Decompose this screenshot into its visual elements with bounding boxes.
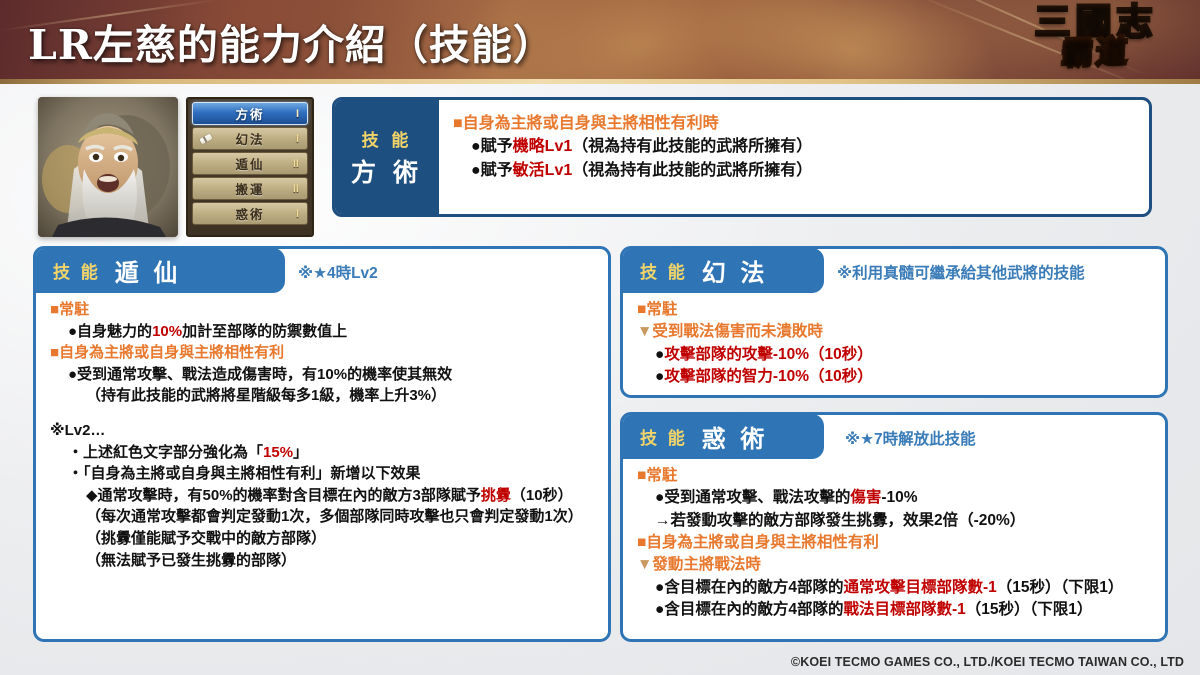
skill-panel-huoshu: 技 能 惑 術 ※★7時解放此技能 ■常駐●受到通常攻擊、戰法攻擊的傷害-10%… bbox=[620, 412, 1168, 642]
skill-menu-item-rank: II bbox=[293, 158, 299, 170]
text-span: 15% bbox=[263, 444, 293, 461]
text-span: （15秒）（下限1） bbox=[966, 601, 1093, 618]
bullet-square-icon: ■ bbox=[453, 115, 463, 132]
skill-panel-huanfa: 技 能 幻 法 ※利用真髓可繼承給其他武將的技能 ■常駐▼受到戰法傷害而未潰敗時… bbox=[620, 246, 1168, 398]
text-span: 」 bbox=[293, 444, 308, 461]
skill-menu-item-1[interactable]: 幻法I bbox=[192, 127, 308, 150]
bullet-square-icon: ■ bbox=[637, 301, 646, 318]
text-line: ▼發動主將戰法時 bbox=[637, 554, 1153, 576]
text-span: （10秒） bbox=[511, 487, 573, 504]
text-span: （視為持有此技能的武將所擁有） bbox=[572, 138, 812, 155]
text-span: （持有此技能的武將將星階級每多1級，機率上升3%） bbox=[86, 387, 446, 404]
text-span: （15秒）（下限1） bbox=[997, 579, 1124, 596]
scroll-icon bbox=[199, 133, 212, 144]
text-line: ◆通常攻擊時，有50%的機率對含目標在內的敵方3部隊賦予挑釁（10秒） bbox=[50, 485, 596, 507]
skill-menu-item-4[interactable]: 惑術I bbox=[192, 202, 308, 225]
text-line: ・「自身為主將或自身與主將相性有利」新增以下效果 bbox=[50, 463, 596, 485]
skill-menu-item-label: 惑術 bbox=[235, 204, 264, 223]
text-span: ●自身魅力的 bbox=[68, 323, 152, 340]
skill-note-huanfa: ※利用真髓可繼承給其他武將的技能 bbox=[837, 261, 1085, 283]
bullet-square-icon: ■ bbox=[50, 301, 59, 318]
text-line: （持有此技能的武將將星階級每多1級，機率上升3%） bbox=[50, 385, 596, 407]
bullet-square-icon: ■ bbox=[637, 467, 646, 484]
text-line: ■常駐 bbox=[50, 299, 596, 321]
bullet-triangle-icon: ▼ bbox=[637, 323, 652, 340]
text-span: 常駐 bbox=[646, 301, 677, 318]
skill-panel-huanfa-header: 技 能 幻 法 ※利用真髓可繼承給其他武將的技能 bbox=[623, 249, 1165, 293]
skill-menu-item-2[interactable]: 遁仙II bbox=[192, 152, 308, 175]
skill-menu-item-label: 遁仙 bbox=[235, 154, 264, 173]
skill-tab-huanfa: 技 能 幻 法 bbox=[622, 248, 824, 293]
text-span: ●含目標在內的敵方4部隊的 bbox=[655, 601, 843, 618]
text-span: →若發動攻擊的敵方部隊發生挑釁，效果2倍（-20%） bbox=[655, 512, 1025, 529]
skill-card-fangshu: 技 能 方 術 ■自身為主將或自身與主將相性有利時●賦予機略Lv1（視為持有此技… bbox=[332, 97, 1152, 217]
text-span: 攻擊部隊的攻擊-10%（10秒） bbox=[664, 346, 872, 363]
skill-panel-dunxian-body: ■常駐●自身魅力的10%加計至部隊的防禦數值上■自身為主將或自身與主將相性有利●… bbox=[36, 293, 608, 581]
line-spacer bbox=[50, 407, 596, 420]
skill-tag-label: 技 能 bbox=[640, 424, 688, 449]
text-span: 常駐 bbox=[59, 301, 89, 318]
skill-name-label: 遁 仙 bbox=[115, 253, 182, 288]
text-line: ●賦予敏活Lv1（視為持有此技能的武將所擁有） bbox=[453, 159, 1139, 182]
text-span: 受到戰法傷害而未潰敗時 bbox=[652, 323, 823, 340]
text-span: 機略Lv1 bbox=[513, 138, 573, 155]
text-line: （無法賦予已發生挑釁的部隊） bbox=[50, 550, 596, 572]
text-line: （每次通常攻擊都會判定發動1次，多個部隊同時攻擊也只會判定發動1次） bbox=[50, 506, 596, 528]
skill-tag-label: 技 能 bbox=[53, 258, 101, 283]
text-span: ●賦予 bbox=[471, 162, 513, 179]
text-span: 敏活Lv1 bbox=[513, 162, 573, 179]
text-line: ●含目標在內的敵方4部隊的通常攻擊目標部隊數-1（15秒）（下限1） bbox=[637, 577, 1153, 599]
text-span: 攻擊部隊的智力-10%（10秒） bbox=[664, 368, 872, 385]
text-line: ●受到通常攻擊、戰法攻擊的傷害-10% bbox=[637, 487, 1153, 509]
text-span: 自身為主將或自身與主將相性有利時 bbox=[463, 115, 719, 132]
text-span: ● bbox=[655, 346, 664, 363]
text-line: ●攻擊部隊的攻擊-10%（10秒） bbox=[637, 344, 1153, 366]
text-span: ◆通常攻擊時，有50%的機率對含目標在內的敵方3部隊賦予 bbox=[86, 487, 481, 504]
skill-menu-item-label: 幻法 bbox=[235, 129, 264, 148]
text-line: ■常駐 bbox=[637, 465, 1153, 487]
bullet-square-icon: ■ bbox=[50, 344, 59, 361]
skill-panel-huoshu-body: ■常駐●受到通常攻擊、戰法攻擊的傷害-10%→若發動攻擊的敵方部隊發生挑釁，效果… bbox=[623, 459, 1165, 631]
text-span: ●受到通常攻擊、戰法造成傷害時，有10%的機率使其無效 bbox=[68, 366, 452, 383]
skill-tab-dunxian: 技 能 遁 仙 bbox=[35, 248, 285, 293]
text-span: 自身為主將或自身與主將相性有利 bbox=[59, 344, 284, 361]
skill-name-label: 惑 術 bbox=[702, 419, 769, 454]
text-span: ●受到通常攻擊、戰法攻擊的 bbox=[655, 489, 850, 506]
skill-menu-item-rank: I bbox=[296, 208, 299, 220]
text-line: ■自身為主將或自身與主將相性有利 bbox=[50, 342, 596, 364]
skill-menu-item-0[interactable]: 方術I bbox=[192, 102, 308, 125]
skill-panel-huoshu-header: 技 能 惑 術 ※★7時解放此技能 bbox=[623, 415, 1165, 459]
skill-name-label: 幻 法 bbox=[702, 253, 769, 288]
text-span: （每次通常攻擊都會判定發動1次，多個部隊同時攻擊也只會判定發動1次） bbox=[86, 508, 583, 525]
text-span: 加計至部隊的防禦數值上 bbox=[182, 323, 347, 340]
text-span: （視為持有此技能的武將所擁有） bbox=[572, 162, 812, 179]
text-span: 自身為主將或自身與主將相性有利 bbox=[646, 534, 879, 551]
text-span: ●賦予 bbox=[471, 138, 513, 155]
text-line: ●受到通常攻擊、戰法造成傷害時，有10%的機率使其無效 bbox=[50, 364, 596, 386]
text-line: ■自身為主將或自身與主將相性有利 bbox=[637, 532, 1153, 554]
text-span: 常駐 bbox=[646, 467, 677, 484]
text-span: 傷害 bbox=[850, 489, 881, 506]
text-line: ●含目標在內的敵方4部隊的戰法目標部隊數-1（15秒）（下限1） bbox=[637, 599, 1153, 621]
text-span: ・「自身為主將或自身與主將相性有利」新增以下效果 bbox=[68, 465, 421, 482]
text-span: （挑釁僅能賦予交戰中的敵方部隊） bbox=[86, 530, 326, 547]
skill-tag-label: 技 能 bbox=[640, 258, 688, 283]
text-span: ・上述紅色文字部分強化為「 bbox=[68, 444, 263, 461]
character-portrait-illustration bbox=[38, 97, 178, 237]
text-span: -10% bbox=[881, 489, 917, 506]
skill-note-dunxian: ※★4時Lv2 bbox=[298, 261, 378, 283]
text-span: ● bbox=[655, 368, 664, 385]
skill-menu-item-rank: I bbox=[296, 108, 299, 120]
skill-note-huoshu: ※★7時解放此技能 bbox=[845, 427, 976, 449]
skill-panel-dunxian-header: 技 能 遁 仙 ※★4時Lv2 bbox=[36, 249, 608, 293]
text-line: ▼受到戰法傷害而未潰敗時 bbox=[637, 321, 1153, 343]
text-line: ●賦予機略Lv1（視為持有此技能的武將所擁有） bbox=[453, 135, 1139, 158]
skill-menu-item-rank: II bbox=[293, 183, 299, 195]
skill-card-fangshu-body: ■自身為主將或自身與主將相性有利時●賦予機略Lv1（視為持有此技能的武將所擁有）… bbox=[439, 100, 1149, 214]
character-portrait bbox=[38, 97, 178, 237]
text-span: ※Lv2… bbox=[50, 422, 105, 439]
text-span: 挑釁 bbox=[481, 487, 511, 504]
text-span: 戰法目標部隊數-1 bbox=[843, 601, 965, 618]
skill-card-fangshu-label: 技 能 方 術 bbox=[335, 100, 439, 214]
bullet-triangle-icon: ▼ bbox=[637, 556, 652, 573]
game-logo: 三國志 霸道 bbox=[1008, 4, 1184, 96]
skill-menu-item-label: 方術 bbox=[235, 104, 264, 123]
page-title: LR左慈的能力介紹（技能） bbox=[28, 11, 555, 71]
text-line: ■常駐 bbox=[637, 299, 1153, 321]
text-line: ■自身為主將或自身與主將相性有利時 bbox=[453, 112, 1139, 135]
text-span: （無法賦予已發生挑釁的部隊） bbox=[86, 552, 296, 569]
skill-menu-item-rank: I bbox=[296, 133, 299, 145]
skill-menu-item-3[interactable]: 搬運II bbox=[192, 177, 308, 200]
skill-list-menu[interactable]: 方術I幻法I遁仙II搬運II惑術I bbox=[186, 97, 314, 237]
text-line: ●攻擊部隊的智力-10%（10秒） bbox=[637, 366, 1153, 388]
text-line: ※Lv2… bbox=[50, 420, 596, 442]
skill-name-label: 方 術 bbox=[351, 153, 423, 189]
text-span: 通常攻擊目標部隊數-1 bbox=[843, 579, 996, 596]
text-span: 發動主將戰法時 bbox=[652, 556, 761, 573]
skill-tab-huoshu: 技 能 惑 術 bbox=[622, 414, 824, 459]
skill-tag-label: 技 能 bbox=[362, 126, 413, 151]
skill-panel-dunxian: 技 能 遁 仙 ※★4時Lv2 ■常駐●自身魅力的10%加計至部隊的防禦數值上■… bbox=[33, 246, 611, 642]
text-line: ・上述紅色文字部分強化為「15%」 bbox=[50, 442, 596, 464]
text-line: （挑釁僅能賦予交戰中的敵方部隊） bbox=[50, 528, 596, 550]
text-span: ●含目標在內的敵方4部隊的 bbox=[655, 579, 843, 596]
text-line: ●自身魅力的10%加計至部隊的防禦數值上 bbox=[50, 321, 596, 343]
logo-sub-text: 霸道 bbox=[1061, 37, 1131, 70]
skill-panel-huanfa-body: ■常駐▼受到戰法傷害而未潰敗時●攻擊部隊的攻擊-10%（10秒）●攻擊部隊的智力… bbox=[623, 293, 1165, 398]
text-line: →若發動攻擊的敵方部隊發生挑釁，效果2倍（-20%） bbox=[637, 510, 1153, 532]
text-span: 10% bbox=[152, 323, 182, 340]
bullet-square-icon: ■ bbox=[637, 534, 646, 551]
skill-menu-item-label: 搬運 bbox=[235, 179, 264, 198]
copyright-notice: ©KOEI TECMO GAMES CO., LTD./KOEI TECMO T… bbox=[791, 655, 1184, 669]
